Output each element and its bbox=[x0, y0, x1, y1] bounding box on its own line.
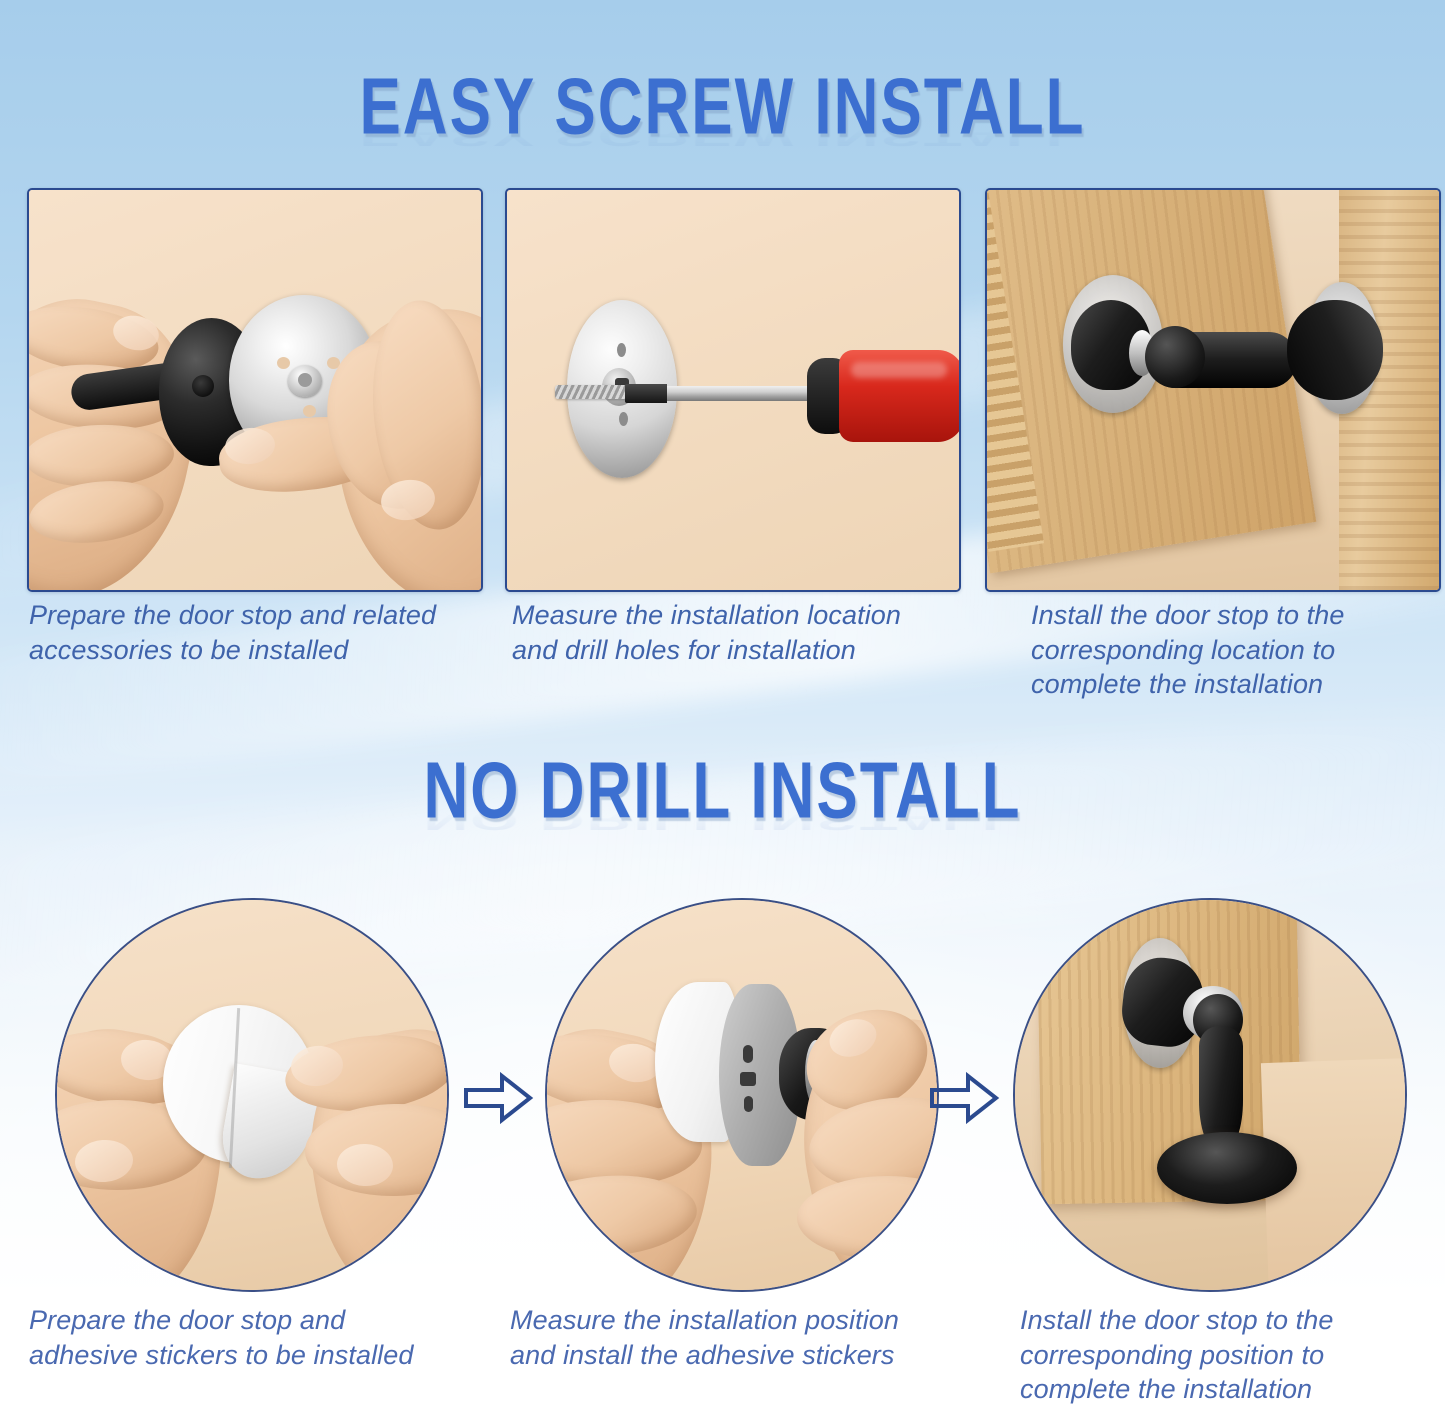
arrow-right-icon bbox=[928, 1068, 1000, 1128]
caption-line: corresponding position to bbox=[1020, 1338, 1440, 1373]
heading-reflection-no-drill-install: NO DRILL INSTALL bbox=[0, 834, 1445, 896]
caption-line: accessories to be installed bbox=[29, 633, 489, 668]
caption-line: Measure the installation location bbox=[512, 598, 972, 633]
step-caption-nodrill-2: Measure the installation position and in… bbox=[510, 1303, 970, 1372]
caption-line: Measure the installation position bbox=[510, 1303, 970, 1338]
infographic-page: EASY SCREW INSTALL EASY SCREW INSTALL bbox=[0, 0, 1445, 1406]
heading-reflection-text: EASY SCREW INSTALL bbox=[0, 122, 1445, 150]
section-heading-no-drill-install: NO DRILL INSTALL bbox=[0, 752, 1445, 814]
caption-line: adhesive stickers to be installed bbox=[29, 1338, 489, 1373]
step-image-screw-1 bbox=[27, 188, 483, 592]
section-heading-easy-screw-install: EASY SCREW INSTALL bbox=[0, 68, 1445, 130]
step-caption-screw-2: Measure the installation location and dr… bbox=[512, 598, 972, 667]
caption-line: complete the installation bbox=[1020, 1372, 1440, 1406]
step-caption-screw-3: Install the door stop to the correspondi… bbox=[1031, 598, 1445, 702]
caption-line: Install the door stop to the bbox=[1031, 598, 1445, 633]
arrow-right-icon bbox=[462, 1068, 534, 1128]
step-image-screw-3 bbox=[985, 188, 1441, 592]
step-caption-nodrill-3: Install the door stop to the correspondi… bbox=[1020, 1303, 1440, 1406]
step-image-nodrill-3 bbox=[1013, 898, 1407, 1292]
caption-line: Prepare the door stop and bbox=[29, 1303, 489, 1338]
caption-line: corresponding location to bbox=[1031, 633, 1445, 668]
caption-line: and install the adhesive stickers bbox=[510, 1338, 970, 1373]
heading-reflection-text: NO DRILL INSTALL bbox=[0, 806, 1445, 834]
caption-line: Prepare the door stop and related bbox=[29, 598, 489, 633]
step-caption-nodrill-1: Prepare the door stop and adhesive stick… bbox=[29, 1303, 489, 1372]
caption-line: and drill holes for installation bbox=[512, 633, 972, 668]
step-image-nodrill-2 bbox=[545, 898, 939, 1292]
caption-line: complete the installation bbox=[1031, 667, 1445, 702]
step-image-screw-2 bbox=[505, 188, 961, 592]
caption-line: Install the door stop to the bbox=[1020, 1303, 1440, 1338]
step-caption-screw-1: Prepare the door stop and related access… bbox=[29, 598, 489, 667]
step-image-nodrill-1 bbox=[55, 898, 449, 1292]
